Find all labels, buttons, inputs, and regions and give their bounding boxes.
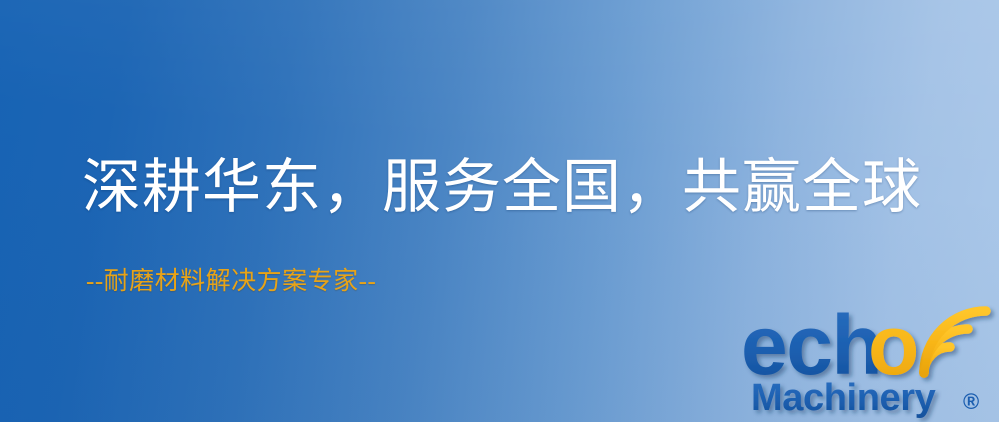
promo-banner: 深耕华东，服务全国，共赢全球 --耐磨材料解决方案专家--: [0, 0, 999, 422]
echo-machinery-logo[interactable]: ech o Machinery ®: [737, 292, 999, 422]
svg-text:®: ®: [963, 389, 979, 414]
svg-text:Machinery: Machinery: [751, 377, 936, 419]
banner-headline: 深耕华东，服务全国，共赢全球: [82, 152, 922, 222]
registered-trademark-icon: ®: [963, 389, 979, 414]
logo-machinery-text: Machinery: [751, 377, 936, 419]
banner-subtitle: --耐磨材料解决方案专家--: [86, 266, 376, 298]
echo-wave-arcs: [924, 311, 986, 373]
